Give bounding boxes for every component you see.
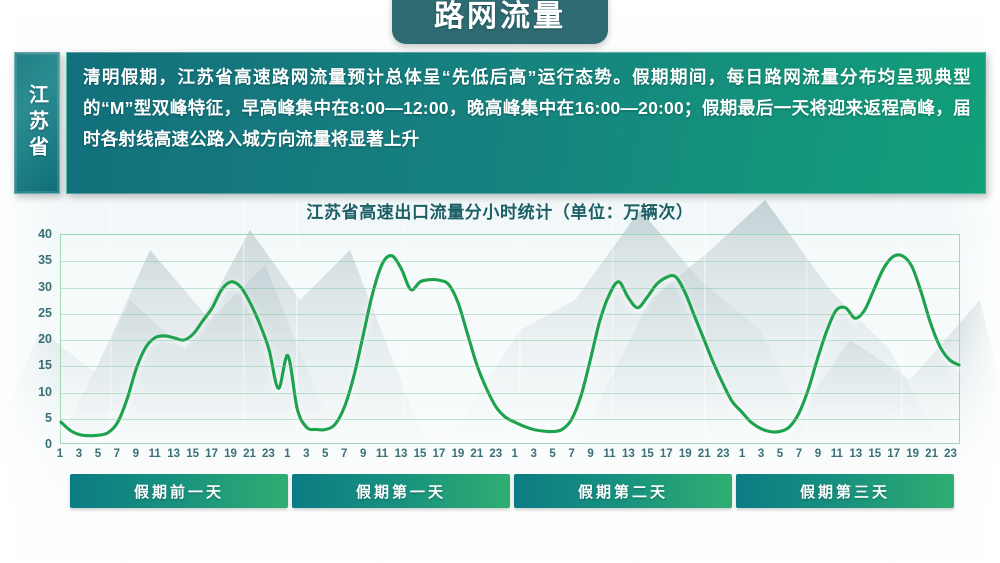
y-axis-tick-label: 40: [38, 227, 52, 241]
gridline: [61, 419, 959, 420]
x-axis-tick-label: 1: [284, 448, 290, 460]
x-axis-tick-label: 15: [186, 448, 199, 460]
province-tab: 江苏省: [14, 52, 60, 194]
gridline: [61, 340, 959, 341]
x-axis-tick-label: 9: [815, 448, 821, 460]
x-axis-tick-label: 19: [224, 448, 237, 460]
page-title: 路网流量: [392, 0, 608, 44]
y-axis-tick-label: 35: [38, 253, 52, 267]
y-axis-tick-label: 20: [38, 332, 52, 346]
x-axis-tick-label: 1: [57, 448, 63, 460]
x-axis-tick-label: 5: [777, 448, 783, 460]
province-tab-label: 江苏省: [23, 84, 52, 162]
x-axis-tick-label: 5: [322, 448, 328, 460]
x-axis-tick-label: 13: [395, 448, 408, 460]
x-axis-tick-label: 9: [587, 448, 593, 460]
x-axis-tick-label: 23: [489, 448, 502, 460]
x-axis-tick-label: 11: [831, 448, 843, 460]
x-axis-tick-label: 9: [133, 448, 139, 460]
x-axis-tick-label: 21: [698, 448, 711, 460]
y-axis-labels: 0510152025303540: [14, 234, 56, 444]
x-axis-tick-label: 3: [758, 448, 764, 460]
x-axis-tick-label: 11: [603, 448, 615, 460]
x-axis-tick-label: 17: [887, 448, 900, 460]
x-axis-tick-label: 17: [660, 448, 673, 460]
x-axis-tick-label: 3: [303, 448, 309, 460]
x-axis-tick-label: 13: [622, 448, 635, 460]
x-axis-tick-label: 7: [341, 448, 347, 460]
x-axis-tick-label: 13: [167, 448, 180, 460]
x-axis-tick-label: 7: [114, 448, 120, 460]
x-axis-tick-label: 5: [549, 448, 555, 460]
page-title-text: 路网流量: [434, 0, 566, 33]
traffic-chart-card: 江苏省高速出口流量分小时统计（单位：万辆次） 0510152025303540 …: [14, 196, 986, 548]
day-label-bar-1: 假期前一天: [70, 474, 288, 508]
x-axis-tick-label: 17: [433, 448, 446, 460]
x-axis-tick-label: 1: [739, 448, 745, 460]
y-axis-tick-label: 0: [45, 437, 52, 451]
x-axis-tick-label: 19: [451, 448, 464, 460]
gridline: [61, 261, 959, 262]
headline-band: 江苏省 清明假期，江苏省高速路网流量预计总体呈“先低后高”运行态势。假期期间，每…: [14, 52, 986, 194]
x-axis-tick-label: 15: [868, 448, 881, 460]
y-axis-tick-label: 15: [38, 358, 52, 372]
chart-title: 江苏省高速出口流量分小时统计（单位：万辆次）: [14, 198, 986, 223]
day-label-text: 假期第一天: [356, 481, 446, 502]
x-axis-labels: 1357911131517192123135791113151719212313…: [60, 448, 960, 466]
day-label-bar-4: 假期第三天: [736, 474, 954, 508]
day-label-text: 假期第二天: [578, 481, 668, 502]
x-axis-tick-label: 21: [925, 448, 938, 460]
headline-panel: 清明假期，江苏省高速路网流量预计总体呈“先低后高”运行态势。假期期间，每日路网流…: [66, 52, 986, 194]
headline-text: 清明假期，江苏省高速路网流量预计总体呈“先低后高”运行态势。假期期间，每日路网流…: [83, 62, 971, 155]
gridline: [61, 393, 959, 394]
y-axis-tick-label: 5: [45, 411, 52, 425]
y-axis-tick-label: 30: [38, 280, 52, 294]
x-axis-tick-label: 7: [796, 448, 802, 460]
x-axis-tick-label: 15: [414, 448, 427, 460]
x-axis-tick-label: 21: [243, 448, 256, 460]
x-axis-tick-label: 3: [530, 448, 536, 460]
y-axis-tick-label: 10: [38, 385, 52, 399]
chart-plot-area: [60, 234, 960, 444]
x-axis-tick-label: 3: [76, 448, 82, 460]
x-axis-tick-label: 11: [376, 448, 388, 460]
day-label-text: 假期前一天: [134, 481, 224, 502]
x-axis-tick-label: 1: [512, 448, 518, 460]
x-axis-tick-label: 17: [205, 448, 218, 460]
gridline: [61, 366, 959, 367]
day-label-bar-3: 假期第二天: [514, 474, 732, 508]
x-axis-tick-label: 7: [568, 448, 574, 460]
day-label-bars: 假期前一天假期第一天假期第二天假期第三天: [70, 474, 954, 508]
x-axis-tick-label: 21: [470, 448, 483, 460]
x-axis-tick-label: 13: [849, 448, 862, 460]
day-label-bar-2: 假期第一天: [292, 474, 510, 508]
gridline: [61, 288, 959, 289]
x-axis-tick-label: 11: [149, 448, 161, 460]
x-axis-tick-label: 23: [944, 448, 957, 460]
x-axis-tick-label: 23: [717, 448, 730, 460]
x-axis-tick-label: 15: [641, 448, 654, 460]
gridline: [61, 314, 959, 315]
traffic-line-series: [61, 235, 959, 443]
x-axis-tick-label: 19: [906, 448, 919, 460]
x-axis-tick-label: 5: [95, 448, 101, 460]
x-axis-tick-label: 9: [360, 448, 366, 460]
day-label-text: 假期第三天: [800, 481, 890, 502]
y-axis-tick-label: 25: [38, 306, 52, 320]
x-axis-tick-label: 23: [262, 448, 275, 460]
x-axis-tick-label: 19: [679, 448, 692, 460]
